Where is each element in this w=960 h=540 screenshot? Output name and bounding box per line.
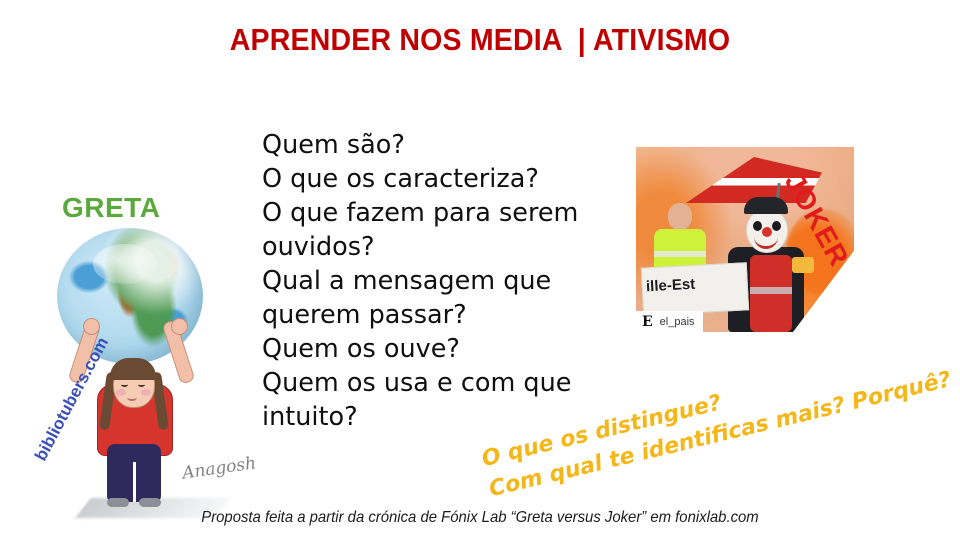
smoke-flare-shape: [792, 257, 814, 273]
mask-eye-left-shape: [753, 221, 762, 231]
cheek-left-shape: [116, 389, 126, 396]
elpais-credit-name: el_pais: [660, 316, 695, 328]
question-line: Qual a mensagem que querem passar?: [262, 264, 630, 332]
slide-canvas: APRENDER NOS MEDIA | ATIVISMO GRETA Anag…: [0, 0, 960, 540]
hand-right-shape: [171, 318, 188, 335]
mask-eye-right-shape: [772, 221, 781, 231]
cap-shape: [744, 197, 788, 214]
protester-head-shape: [668, 203, 692, 230]
source-note: Proposta feita a partir da crónica de Fó…: [34, 509, 927, 527]
mouth-shape: [127, 394, 137, 401]
question-line: O que os caracteriza?: [262, 162, 630, 196]
greta-illustration: [35, 222, 245, 487]
hand-left-shape: [83, 318, 100, 335]
protest-banner-text: ille-Est: [646, 276, 696, 296]
globe-gloss-shape: [93, 244, 157, 284]
eye-right-shape: [138, 382, 145, 387]
question-line: Quem os ouve?: [262, 332, 630, 366]
joker-vest-stripe-shape: [750, 287, 792, 294]
shoe-right-shape: [139, 498, 161, 507]
question-line: O que fazem para serem ouvidos?: [262, 196, 630, 264]
leg-split-shape: [133, 462, 136, 502]
photo-credit-badge: E el_pais: [636, 311, 703, 332]
page-title: APRENDER NOS MEDIA | ATIVISMO: [38, 22, 921, 58]
hair-shape: [110, 358, 156, 380]
mask-nose-shape: [762, 227, 772, 237]
elpais-logo-icon: E: [642, 314, 653, 330]
greta-label: GRETA: [62, 192, 160, 224]
eye-left-shape: [121, 382, 128, 387]
question-list: Quem são? O que os caracteriza? O que fa…: [262, 128, 630, 434]
vest-stripe-shape: [654, 251, 706, 257]
question-line: Quem são?: [262, 128, 630, 162]
cheek-right-shape: [141, 389, 151, 396]
shoe-left-shape: [107, 498, 129, 507]
